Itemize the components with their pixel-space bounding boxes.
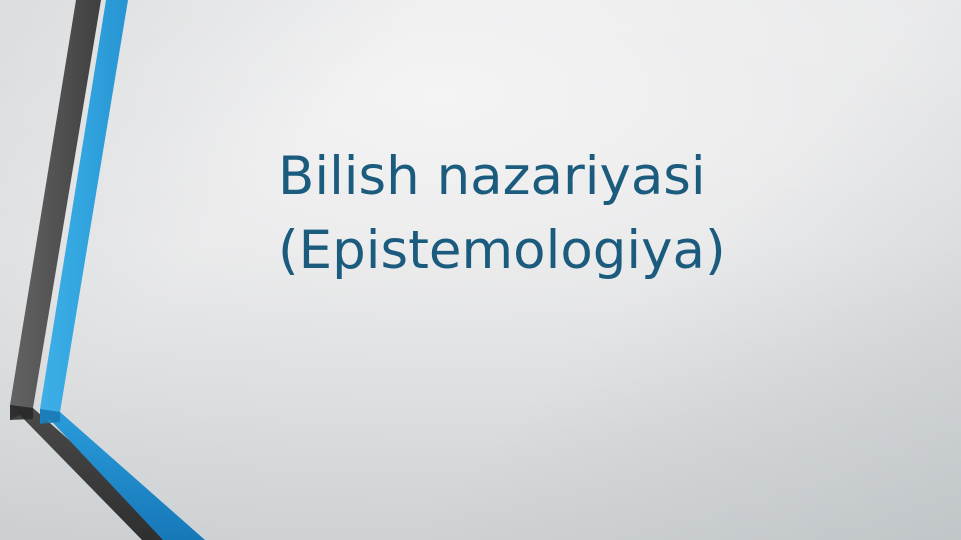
page-title: Bilish nazariyasi (Epistemologiya)	[278, 140, 878, 288]
ribbon-gray-upper-segment	[10, 0, 101, 420]
ribbon-blue-upper-segment	[40, 0, 128, 424]
ribbon-gray-lower-segment	[10, 405, 182, 540]
ribbon-gray-vertex-bevel	[10, 405, 33, 420]
ribbon-blue-lower-segment	[40, 409, 205, 540]
title-line-1: Bilish nazariyasi	[278, 140, 878, 214]
slide-canvas: Bilish nazariyasi (Epistemologiya)	[0, 0, 961, 540]
chevron-ribbon-decoration	[0, 0, 300, 540]
ribbon-blue-vertex-bevel	[40, 409, 60, 424]
title-line-2: (Epistemologiya)	[278, 214, 878, 288]
